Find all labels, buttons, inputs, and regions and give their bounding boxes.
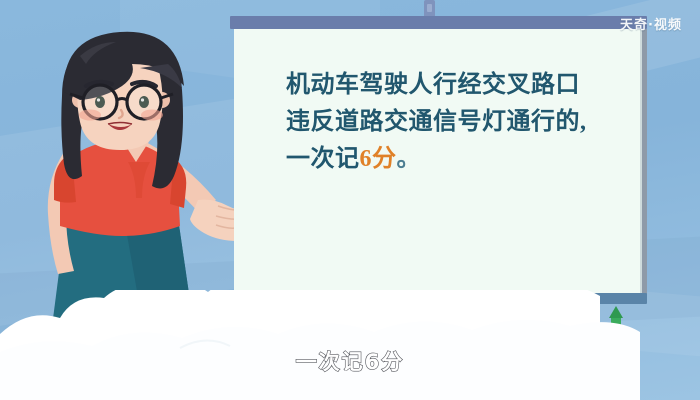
whiteboard-text-block: 机动车驾驶人行经交叉路口 违反道路交通信号灯通行的, 一次记6分。 <box>286 67 616 178</box>
whiteboard-line-1: 机动车驾驶人行经交叉路口 <box>286 67 616 104</box>
video-subtitle: 一次记6分 <box>0 346 700 376</box>
cloud-foreground <box>0 290 700 400</box>
whiteboard: 机动车驾驶人行经交叉路口 违反道路交通信号灯通行的, 一次记6分。 <box>230 16 647 304</box>
whiteboard-top-frame <box>230 16 647 29</box>
whiteboard-right-frame <box>642 29 647 295</box>
whiteboard-line-3-pre: 一次记 <box>286 146 360 172</box>
whiteboard-line-2: 违反道路交通信号灯通行的, <box>286 104 616 141</box>
whiteboard-line-3-post: 。 <box>397 146 422 172</box>
whiteboard-surface: 机动车驾驶人行经交叉路口 违反道路交通信号灯通行的, 一次记6分。 <box>234 29 642 295</box>
whiteboard-line-3: 一次记6分。 <box>286 141 616 178</box>
channel-watermark: 天奇·视频 <box>620 14 682 33</box>
whiteboard-line-3-accent: 6分 <box>360 146 397 172</box>
video-frame: 机动车驾驶人行经交叉路口 违反道路交通信号灯通行的, 一次记6分。 <box>0 0 700 400</box>
